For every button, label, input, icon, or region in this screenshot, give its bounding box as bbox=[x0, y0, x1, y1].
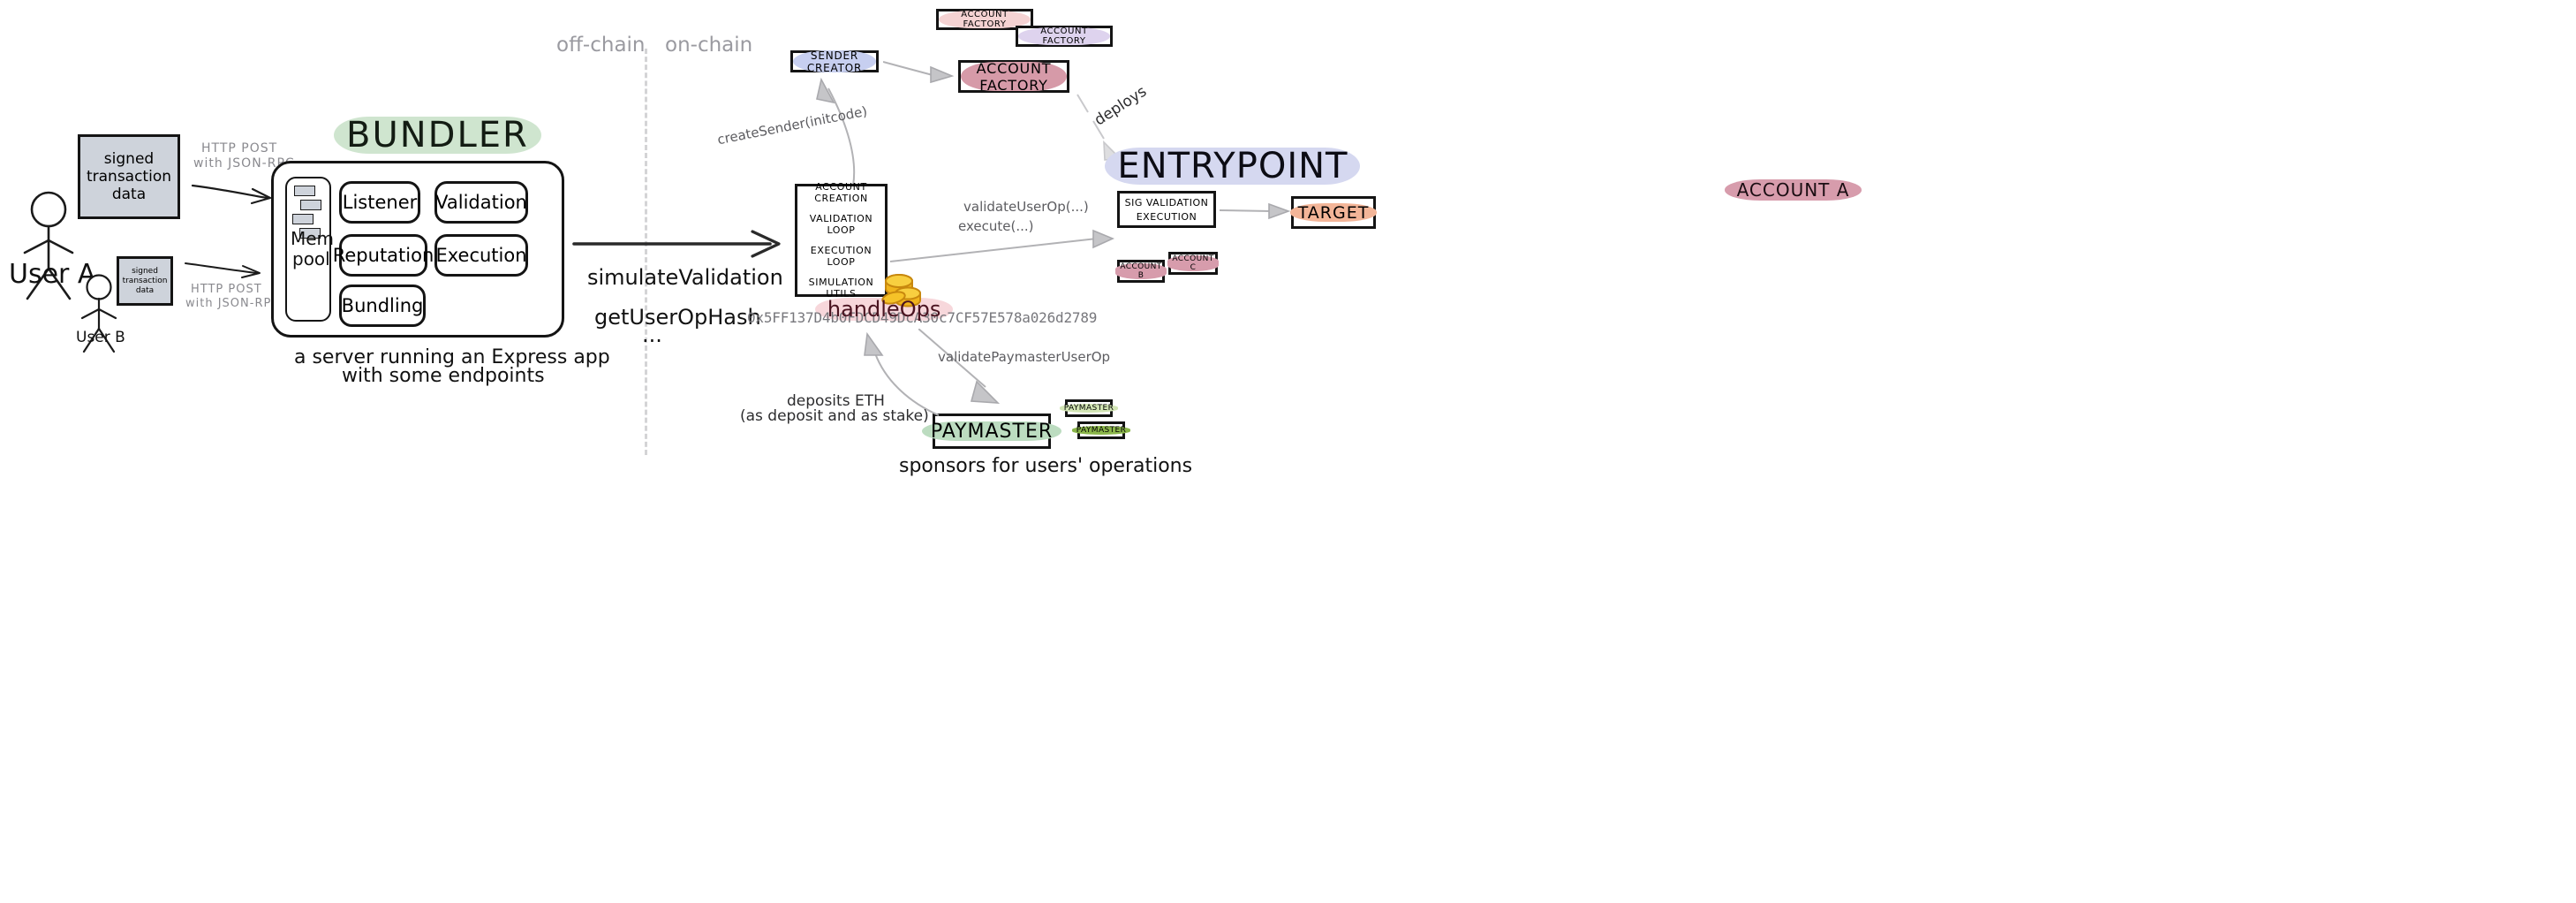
account-factory-box-2[interactable]: ACCOUNT FACTORY bbox=[1016, 26, 1113, 47]
account-factory-highlight-3: ACCOUNT FACTORY bbox=[961, 59, 1067, 95]
mempool-label-line1: Mem bbox=[291, 228, 334, 249]
bundler-module-execution[interactable]: Execution bbox=[434, 234, 528, 277]
create-sender-arrow bbox=[804, 72, 865, 191]
paymaster-caption: sponsors for users' operations bbox=[899, 455, 1192, 477]
entrypoint-title: ENTRYPOINT bbox=[1105, 144, 1360, 188]
paymaster-variant-box-1[interactable]: PAYMASTER bbox=[1065, 399, 1113, 417]
account-factory-highlight-2: ACCOUNT FACTORY bbox=[1018, 26, 1110, 47]
http-post-label-b-line2: with JSON-RPC bbox=[185, 297, 280, 310]
paymaster-variant-label: PAYMASTER bbox=[1076, 426, 1126, 435]
target-box[interactable]: TARGET bbox=[1291, 196, 1376, 229]
account-c-box[interactable]: ACCOUNT C bbox=[1168, 252, 1218, 275]
bundler-module-label: Listener bbox=[343, 192, 418, 213]
paymaster-variant-label: PAYMASTER bbox=[1064, 404, 1114, 413]
account-a-title-text: ACCOUNT A bbox=[1737, 179, 1850, 201]
bundler-title: BUNDLER bbox=[334, 113, 541, 157]
mempool-chip bbox=[292, 214, 314, 224]
account-factory-label: ACCOUNT FACTORY bbox=[1040, 27, 1088, 46]
account-a-box[interactable]: SIG VALIDATION EXECUTION bbox=[1117, 191, 1216, 228]
validate-user-op-label: validateUserOp(...) bbox=[963, 199, 1089, 215]
signed-tx-line3: data bbox=[112, 186, 146, 203]
bundler-module-bundling[interactable]: Bundling bbox=[339, 285, 426, 327]
account-b-box[interactable]: ACCOUNT B bbox=[1117, 260, 1165, 283]
paymaster-variant-highlight-1: PAYMASTER bbox=[1060, 403, 1118, 414]
sender-creator-highlight: SENDER CREATOR bbox=[793, 49, 876, 75]
user-b-label: User B bbox=[76, 329, 125, 346]
validate-paymaster-label: validatePaymasterUserOp bbox=[938, 349, 1110, 365]
entrypoint-title-text: ENTRYPOINT bbox=[1117, 146, 1348, 186]
bundler-module-validation[interactable]: Validation bbox=[434, 181, 528, 224]
sender-creator-label: SENDER CREATOR bbox=[807, 49, 862, 74]
signed-transaction-box-b: signed transaction data bbox=[117, 256, 173, 306]
bundler-caption-line2: with some endpoints bbox=[342, 365, 545, 387]
http-post-label-a-line1: HTTP POST bbox=[201, 141, 277, 156]
target-highlight: TARGET bbox=[1290, 202, 1378, 224]
mempool-label-line2: pool bbox=[292, 248, 330, 269]
bundler-module-label: Validation bbox=[435, 192, 527, 213]
account-a-title: ACCOUNT A bbox=[1725, 178, 1862, 202]
account-factory-label: ACCOUNT FACTORY bbox=[961, 10, 1008, 29]
mempool-chip bbox=[300, 200, 321, 210]
offchain-label: off-chain bbox=[556, 34, 646, 57]
execute-label: execute(...) bbox=[958, 218, 1033, 234]
http-post-label-b-line1: HTTP POST bbox=[191, 283, 262, 296]
signed-tx-line2: transaction bbox=[87, 168, 171, 186]
entrypoint-call-handleops-text: handleOps bbox=[827, 297, 941, 322]
bundler-module-reputation[interactable]: Reputation bbox=[339, 234, 427, 277]
bundler-title-text: BUNDLER bbox=[346, 115, 529, 156]
signed-tx-b-line1: signed bbox=[132, 267, 158, 277]
account-factory-box-3[interactable]: ACCOUNT FACTORY bbox=[958, 60, 1069, 93]
account-c-highlight: ACCOUNT C bbox=[1167, 254, 1218, 273]
entrypoint-call-handleops: handleOps bbox=[815, 295, 953, 323]
sender-creator-to-factory-arrow bbox=[883, 60, 956, 88]
account-factory-label: ACCOUNT FACTORY bbox=[977, 60, 1052, 94]
http-post-arrow-a bbox=[191, 173, 276, 212]
paymaster-variant-box-2[interactable]: PAYMASTER bbox=[1077, 421, 1125, 439]
account-a-item-sig-validation: SIG VALIDATION bbox=[1125, 197, 1209, 209]
entrypoint-item-validation-loop: VALIDATION LOOP bbox=[797, 213, 885, 236]
paymaster-highlight: PAYMASTER bbox=[922, 420, 1061, 444]
entrypoint-box[interactable]: ACCOUNT CREATION VALIDATION LOOP EXECUTI… bbox=[795, 184, 888, 297]
paymaster-label: PAYMASTER bbox=[931, 421, 1053, 443]
entrypoint-item-execution-loop: EXECUTION LOOP bbox=[797, 245, 885, 268]
onchain-label: on-chain bbox=[665, 34, 752, 57]
signed-transaction-box-a: signed transaction data bbox=[78, 134, 180, 219]
target-label: TARGET bbox=[1298, 203, 1370, 223]
bundler-module-listener[interactable]: Listener bbox=[339, 181, 420, 224]
bundler-module-label: Bundling bbox=[342, 295, 424, 316]
signed-tx-b-line2: transaction bbox=[123, 277, 168, 286]
entrypoint-call-getuseropt-hash: getUserOpHash bbox=[594, 305, 761, 330]
mempool-chip bbox=[294, 186, 315, 196]
signed-tx-b-line3: data bbox=[136, 286, 154, 296]
bundler-to-entrypoint-arrow bbox=[572, 228, 784, 267]
bundler-module-label: Execution bbox=[435, 245, 526, 266]
paymaster-variant-highlight-2: PAYMASTER bbox=[1072, 425, 1130, 436]
account-b-label: ACCOUNT B bbox=[1120, 262, 1161, 280]
account-to-target-arrow bbox=[1220, 201, 1292, 226]
account-b-highlight: ACCOUNT B bbox=[1115, 262, 1166, 281]
entrypoint-item-account-creation: ACCOUNT CREATION bbox=[797, 181, 885, 204]
entrypoint-call-ellipsis: ... bbox=[642, 322, 662, 347]
deposits-eth-label-line2: (as deposit and as stake) bbox=[740, 407, 929, 425]
signed-tx-line1: signed bbox=[104, 150, 154, 168]
paymaster-box[interactable]: PAYMASTER bbox=[933, 414, 1051, 449]
entrypoint-call-simulatevalidation: simulateValidation bbox=[587, 265, 783, 290]
account-c-label: ACCOUNT C bbox=[1172, 254, 1213, 272]
account-a-item-execution: EXECUTION bbox=[1137, 211, 1197, 223]
sender-creator-box[interactable]: SENDER CREATOR bbox=[790, 50, 879, 72]
bundler-module-label: Reputation bbox=[333, 245, 434, 266]
validate-paymaster-arrow bbox=[918, 329, 1010, 417]
